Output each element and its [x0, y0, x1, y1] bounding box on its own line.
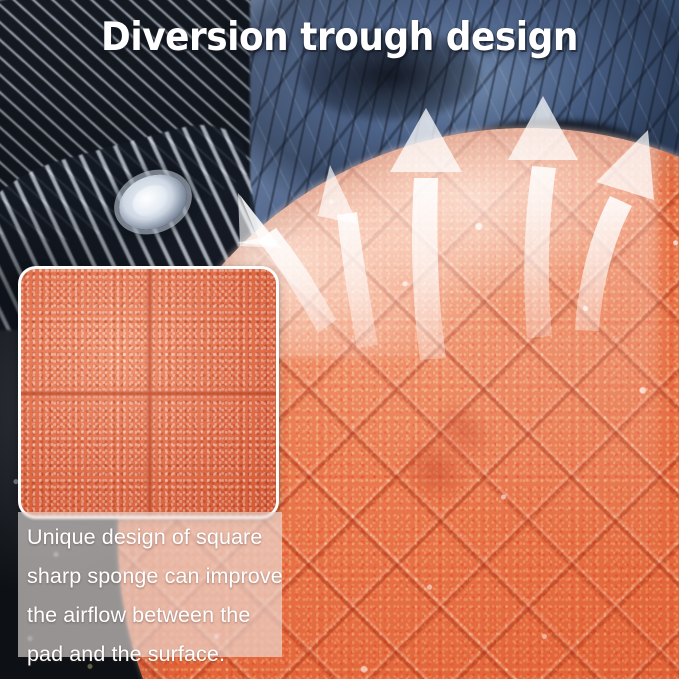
- magnified-sponge-closeup: [18, 266, 279, 519]
- caption-line-1: Unique design of square: [27, 518, 295, 557]
- headline-title: Diversion trough design: [27, 15, 652, 60]
- caption-text: Unique design of square sharp sponge can…: [27, 518, 295, 674]
- caption-line-2: sharp sponge can improve: [27, 557, 295, 596]
- caption-line-4: pad and the surface.: [27, 635, 295, 674]
- infographic-canvas: Unique design of square sharp sponge can…: [0, 0, 679, 679]
- caption-line-3: the airflow between the: [27, 596, 295, 635]
- closeup-shading: [21, 269, 276, 516]
